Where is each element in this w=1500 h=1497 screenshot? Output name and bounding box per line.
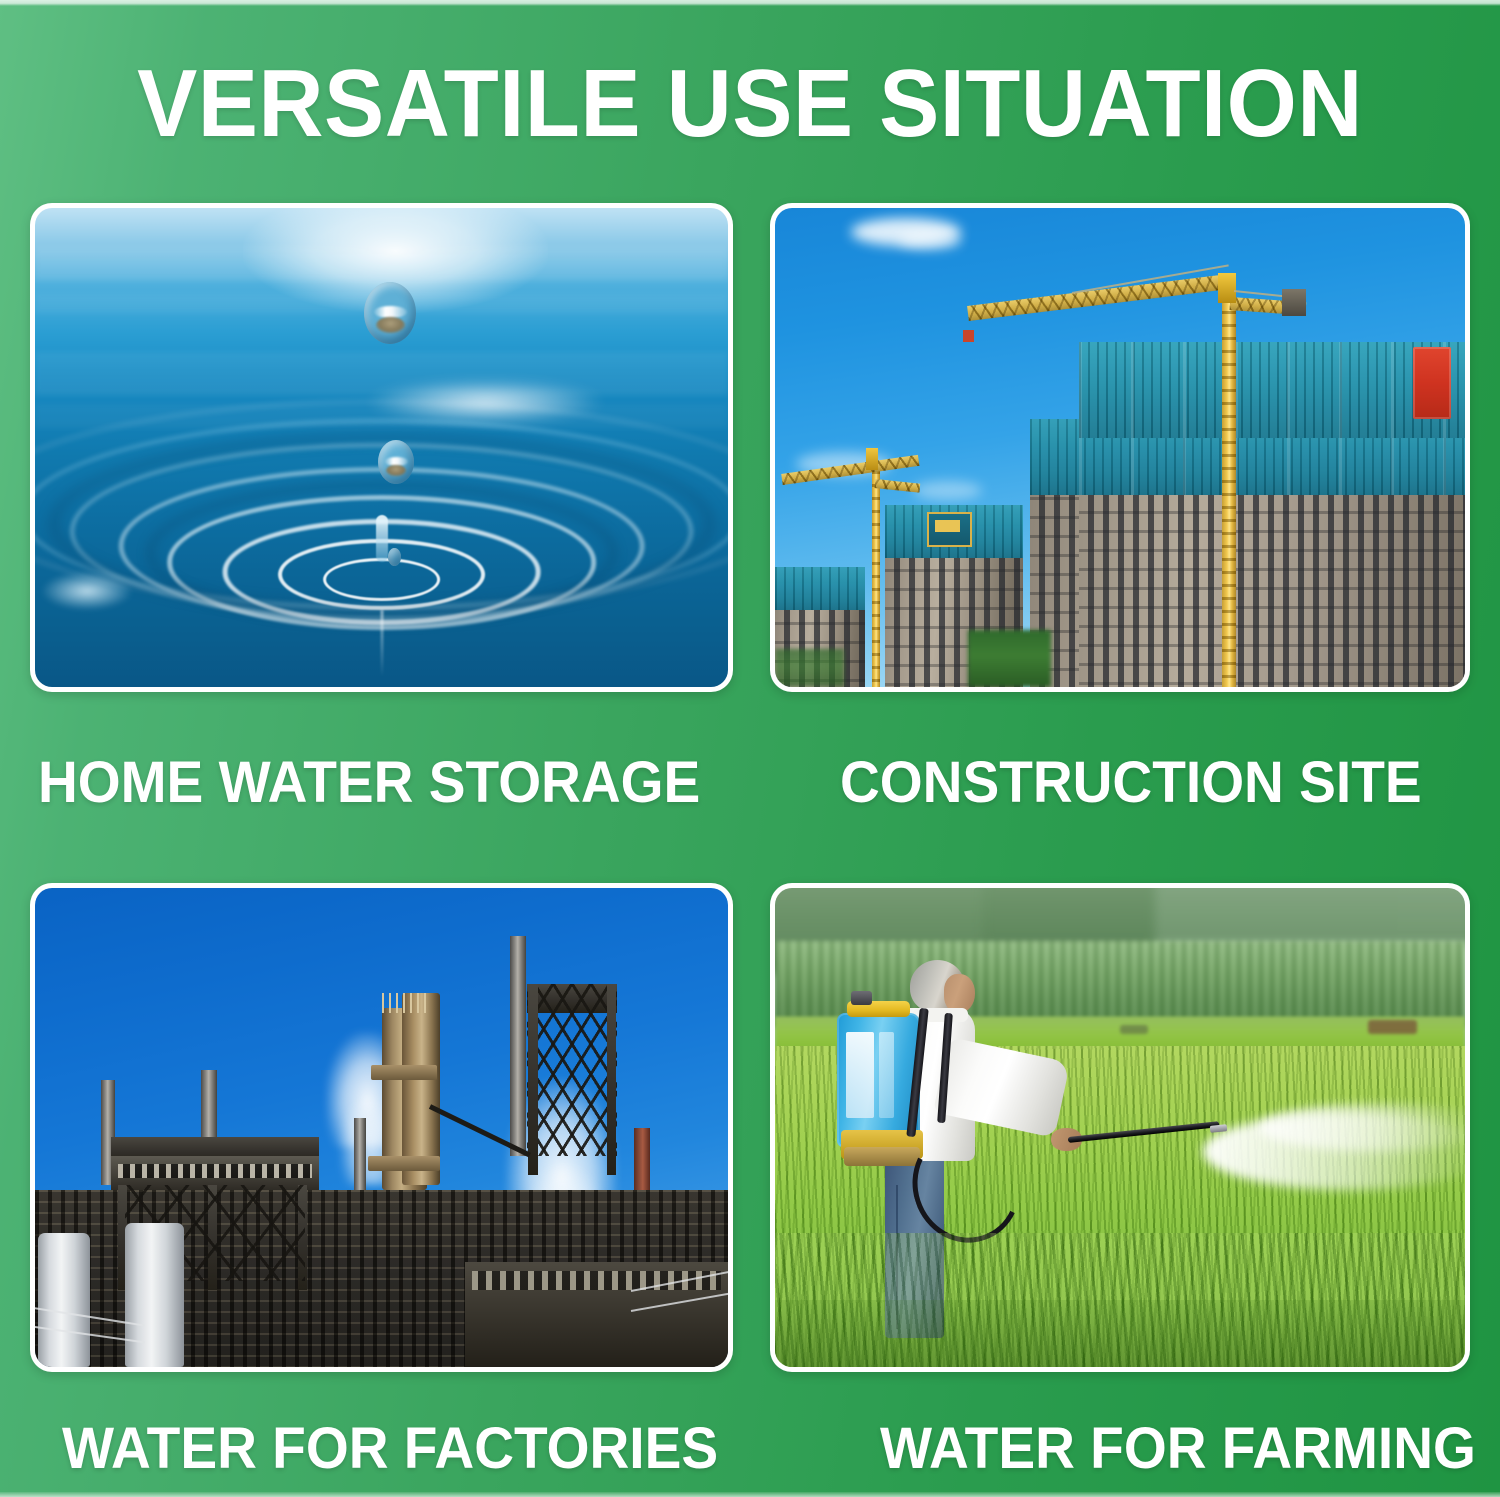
image-water-drop: [35, 208, 728, 687]
caption-home-water-storage: HOME WATER STORAGE: [38, 752, 700, 814]
card-water-for-farming[interactable]: [770, 883, 1470, 1372]
card-home-water-storage[interactable]: [30, 203, 733, 692]
bottom-edge-line: [0, 1492, 1500, 1497]
image-factory: [35, 888, 728, 1367]
versatile-use-situation-poster: VERSATILE USE SITUATION: [0, 0, 1500, 1497]
card-construction-site[interactable]: [770, 203, 1470, 692]
caption-water-for-farming: WATER FOR FARMING: [880, 1418, 1476, 1480]
caption-water-for-factories: WATER FOR FACTORIES: [62, 1418, 718, 1480]
page-title: VERSATILE USE SITUATION: [45, 52, 1455, 156]
card-water-for-factories[interactable]: [30, 883, 733, 1372]
top-edge-line: [0, 0, 1500, 6]
caption-construction-site: CONSTRUCTION SITE: [840, 752, 1422, 814]
image-construction-site: [775, 208, 1465, 687]
image-farming: [775, 888, 1465, 1367]
